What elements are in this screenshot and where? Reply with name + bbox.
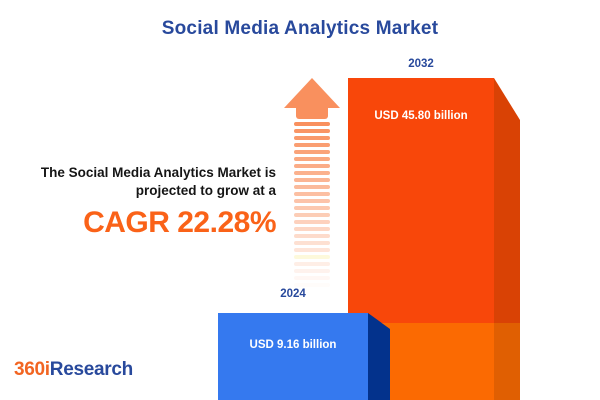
arrow-shaft-stripe bbox=[294, 122, 330, 126]
arrow-shaft-stripe bbox=[294, 234, 330, 238]
bar-2024: USD 9.16 billion bbox=[218, 313, 368, 400]
arrow-shaft-stripe bbox=[294, 248, 330, 252]
arrow-shaft-stripe bbox=[294, 150, 330, 154]
logo-word: Research bbox=[50, 359, 133, 380]
arrow-shaft-stripe bbox=[294, 178, 330, 182]
bar-label-2024: 2024 bbox=[218, 288, 368, 300]
statement-line-1: The Social Media Analytics Market is bbox=[14, 164, 276, 182]
arrow-shaft-stripe bbox=[294, 164, 330, 168]
logo-mark: 360i bbox=[14, 359, 50, 380]
brand-logo: 360iResearch bbox=[14, 359, 133, 381]
arrow-shaft-stripe bbox=[294, 185, 330, 189]
statement-line-2: projected to grow at a bbox=[14, 182, 276, 200]
arrow-shaft-stripe bbox=[294, 269, 330, 273]
arrow-shaft-stripe bbox=[294, 227, 330, 231]
bar-2032-value-label: USD 45.80 billion bbox=[348, 110, 494, 122]
arrow-shaft-stripe bbox=[294, 255, 330, 259]
arrow-shaft-stripe bbox=[294, 199, 330, 203]
arrow-shaft-stripe bbox=[294, 157, 330, 161]
arrow-shaft-stripe bbox=[294, 136, 330, 140]
arrow-shaft-stripe bbox=[294, 206, 330, 210]
arrow-shaft-stripe bbox=[294, 262, 330, 266]
bar-label-2032: 2032 bbox=[348, 58, 494, 70]
bar-2024-value-label: USD 9.16 billion bbox=[218, 339, 368, 351]
arrow-shaft-stripe bbox=[294, 192, 330, 196]
arrow-head-icon bbox=[284, 78, 340, 108]
arrow-shaft bbox=[294, 122, 330, 288]
market-infographic: Social Media Analytics Market The Social… bbox=[0, 0, 600, 400]
arrow-shaft-stripe bbox=[294, 220, 330, 224]
statement-block: The Social Media Analytics Market is pro… bbox=[14, 164, 276, 239]
arrow-shaft-stripe bbox=[294, 213, 330, 217]
arrow-shaft-stripe bbox=[294, 171, 330, 175]
bar-2032-side-upper bbox=[494, 78, 520, 323]
bar-2024-face bbox=[218, 313, 368, 400]
arrow-shaft-stripe bbox=[294, 129, 330, 133]
up-arrow-growth-icon bbox=[284, 78, 340, 288]
arrow-shaft-stripe bbox=[294, 276, 330, 280]
arrow-neck bbox=[296, 107, 328, 119]
arrow-shaft-stripe bbox=[294, 143, 330, 147]
bar-2032-side-lower bbox=[494, 323, 520, 400]
arrow-shaft-stripe bbox=[294, 241, 330, 245]
arrow-shaft-stripe bbox=[294, 283, 330, 287]
page-title: Social Media Analytics Market bbox=[0, 18, 600, 40]
cagr-value: CAGR 22.28% bbox=[14, 206, 276, 239]
